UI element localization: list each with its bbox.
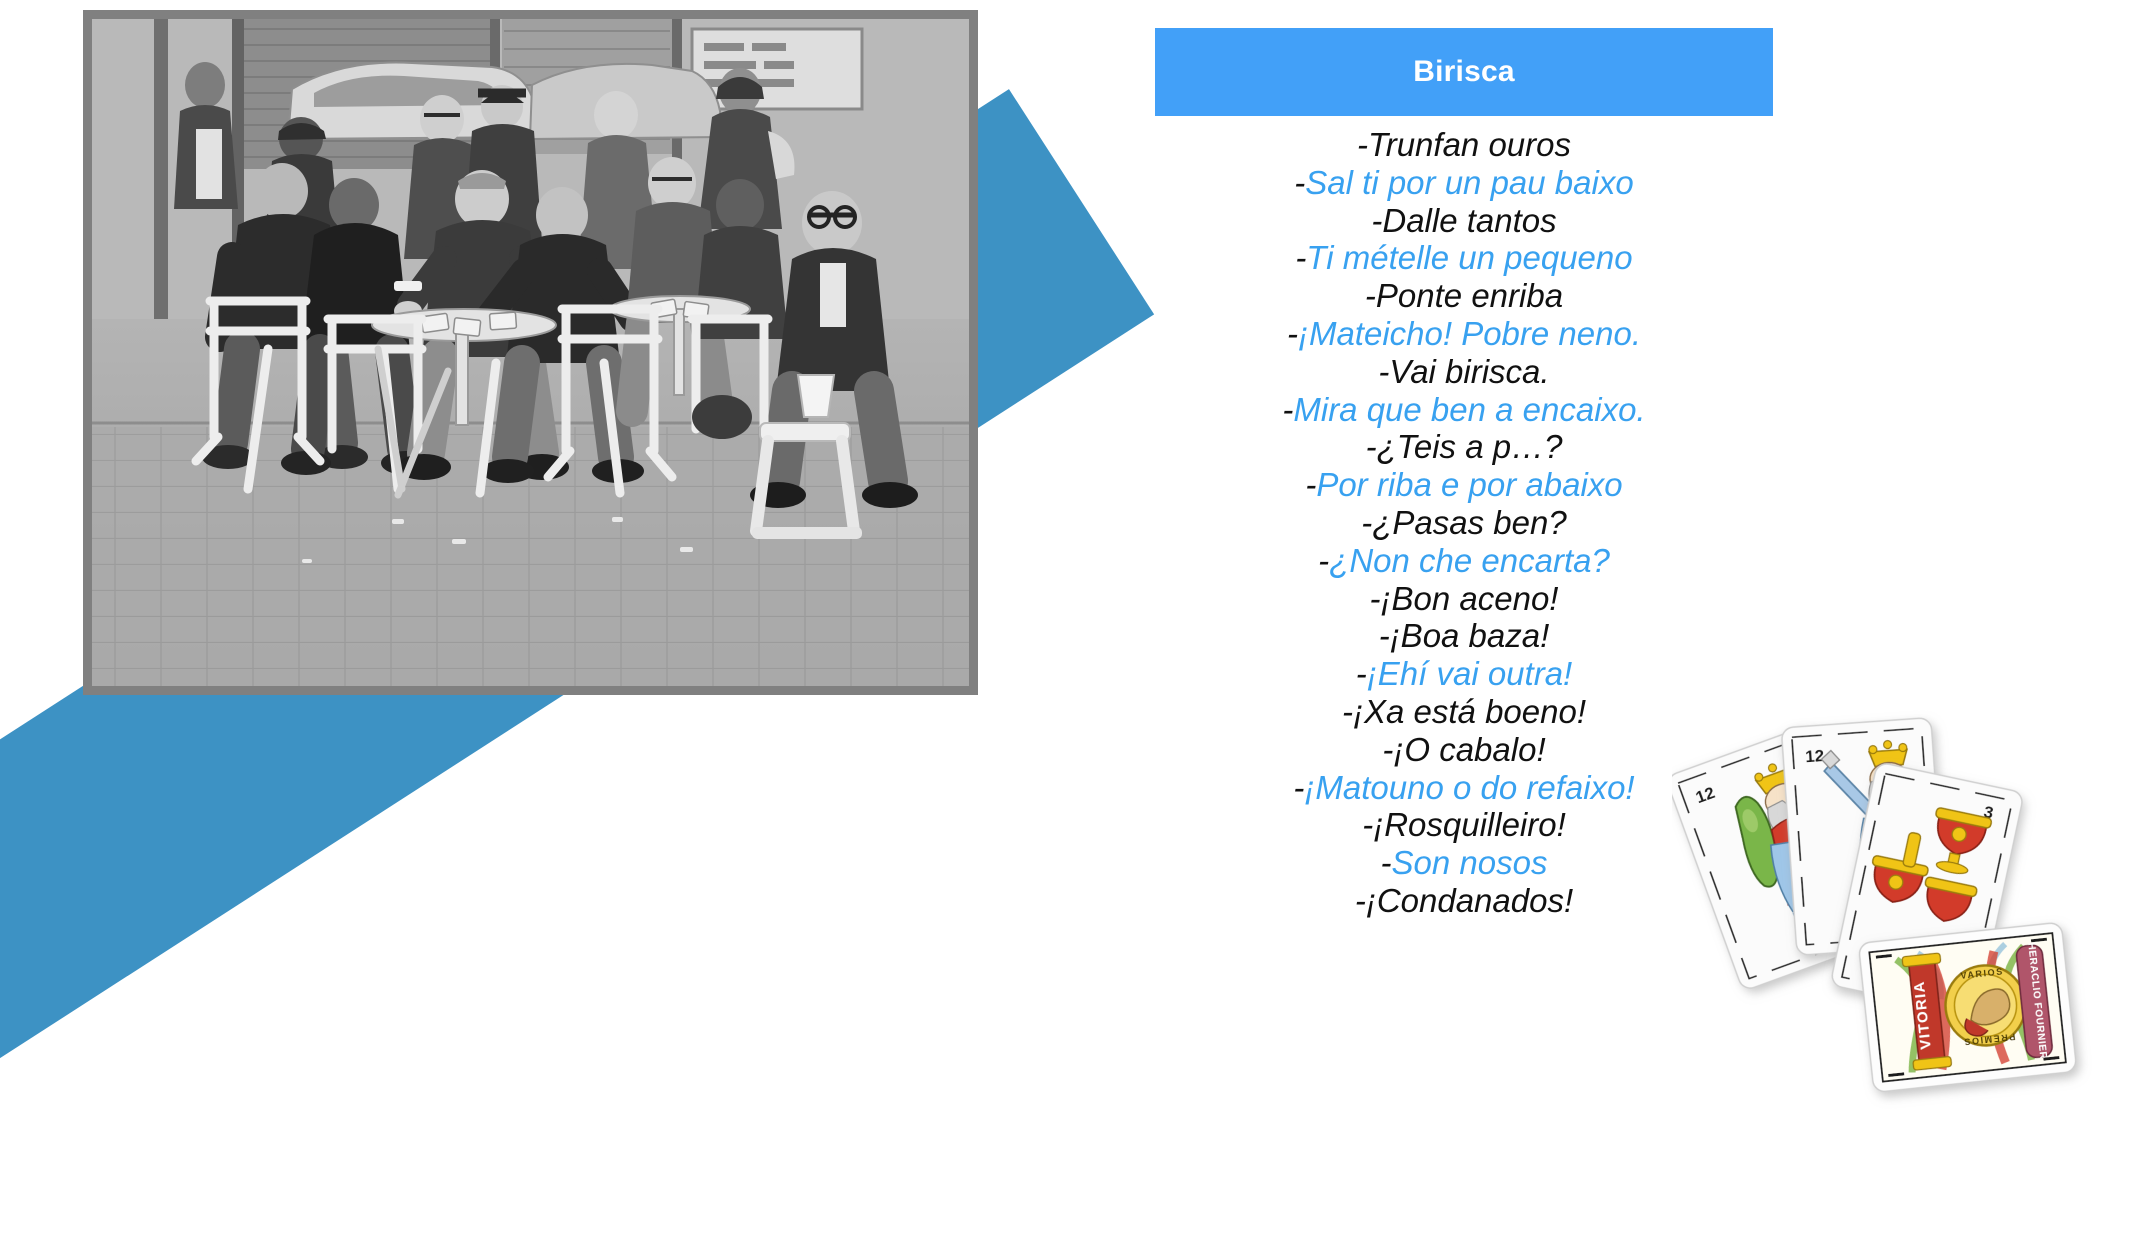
poem-line: -¡Ehí vai outra!	[1155, 655, 1773, 693]
card-back: VARIOS PREMIOS VITORIA HERACLIO FOURNIER	[1858, 922, 2077, 1093]
poem-line-text: Por riba e por abaixo	[1316, 466, 1622, 503]
poem-line-dash: -	[1357, 126, 1368, 163]
poem-line: -Ponte enriba	[1155, 277, 1773, 315]
poem-line-dash: -	[1293, 769, 1304, 806]
poem-line: -¡Boa baza!	[1155, 617, 1773, 655]
poem-line-dash: -	[1287, 315, 1298, 352]
poem-line-dash: -	[1295, 239, 1306, 276]
poem-line-text: Mira que ben a encaixo.	[1293, 391, 1645, 428]
poem-line-dash: -	[1379, 617, 1390, 654]
photo-frame	[83, 10, 978, 695]
poem-line: -Mira que ben a encaixo.	[1155, 391, 1773, 429]
poem-line-dash: -	[1365, 277, 1376, 314]
poem-line: -¿Pasas ben?	[1155, 504, 1773, 542]
playing-cards-artwork: 12 12	[1672, 700, 2092, 1140]
poem-line: -Sal ti por un pau baixo	[1155, 164, 1773, 202]
poem-line-text: ¡Boa baza!	[1390, 617, 1550, 654]
poem-line-dash: -	[1356, 655, 1367, 692]
poem-line-text: Ti métellе un pequeno	[1306, 239, 1632, 276]
poem-line: -¡Bon aceno!	[1155, 580, 1773, 618]
poem-line-text: Sal ti por un pau baixo	[1305, 164, 1633, 201]
poem-line-text: Ponte enriba	[1376, 277, 1563, 314]
poem-line-text: ¡Rosquilleiro!	[1373, 806, 1566, 843]
poem-line-dash: -	[1282, 391, 1293, 428]
poem-line-dash: -	[1355, 882, 1366, 919]
poem-line: -Ti métellе un pequeno	[1155, 239, 1773, 277]
poem-line: -¿Non che encarta?	[1155, 542, 1773, 580]
poem-line-text: ¡O cabalo!	[1393, 731, 1545, 768]
page-title: Birisca	[1413, 55, 1514, 89]
poem-line-text: ¿Pasas ben?	[1372, 504, 1566, 541]
poem-line: -Dalle tantos	[1155, 202, 1773, 240]
poem-line: -Vai birisca.	[1155, 353, 1773, 391]
poem-line-dash: -	[1370, 580, 1381, 617]
poem-line-text: Trunfan ouros	[1368, 126, 1571, 163]
poem-line-dash: -	[1381, 844, 1392, 881]
svg-text:12: 12	[1805, 746, 1825, 766]
poem-line-text: ¿Non che encarta?	[1329, 542, 1610, 579]
poem-line-dash: -	[1362, 806, 1373, 843]
poem-line-dash: -	[1342, 693, 1353, 730]
poem-line-text: Vai birisca.	[1389, 353, 1549, 390]
poem-line-text: ¿Teis a p…?	[1377, 428, 1563, 465]
poem-line: -Trunfan ouros	[1155, 126, 1773, 164]
poem-line-text: ¡Matouno o do refaixo!	[1304, 769, 1634, 806]
poem-line: -Por riba e por abaixo	[1155, 466, 1773, 504]
poem-line-text: ¡Condanados!	[1366, 882, 1573, 919]
spanish-playing-cards: 12 12	[1672, 700, 2092, 1140]
poem-line-dash: -	[1382, 731, 1393, 768]
poem-line-text: ¡Xa está boeno!	[1353, 693, 1586, 730]
poem-line-text: Dalle tantos	[1382, 202, 1556, 239]
poem-line-dash: -	[1318, 542, 1329, 579]
card-players-photo	[92, 19, 969, 686]
poem-line-text: ¡Mateicho! Pobre neno.	[1298, 315, 1641, 352]
poem-line-dash: -	[1366, 428, 1377, 465]
title-banner: Birisca	[1155, 28, 1773, 116]
poem-line: -¿Teis a p…?	[1155, 428, 1773, 466]
poem-line-text: ¡Bon aceno!	[1381, 580, 1559, 617]
poem-line-dash: -	[1378, 353, 1389, 390]
poem-line-dash: -	[1361, 504, 1372, 541]
poem-line-text: ¡Ehí vai outra!	[1367, 655, 1572, 692]
photo-artwork	[92, 19, 969, 686]
poem-line-dash: -	[1371, 202, 1382, 239]
poem-line-text: Son nosos	[1392, 844, 1548, 881]
poem-line: -¡Mateicho! Pobre neno.	[1155, 315, 1773, 353]
poem-line-dash: -	[1305, 466, 1316, 503]
poem-line-dash: -	[1294, 164, 1305, 201]
